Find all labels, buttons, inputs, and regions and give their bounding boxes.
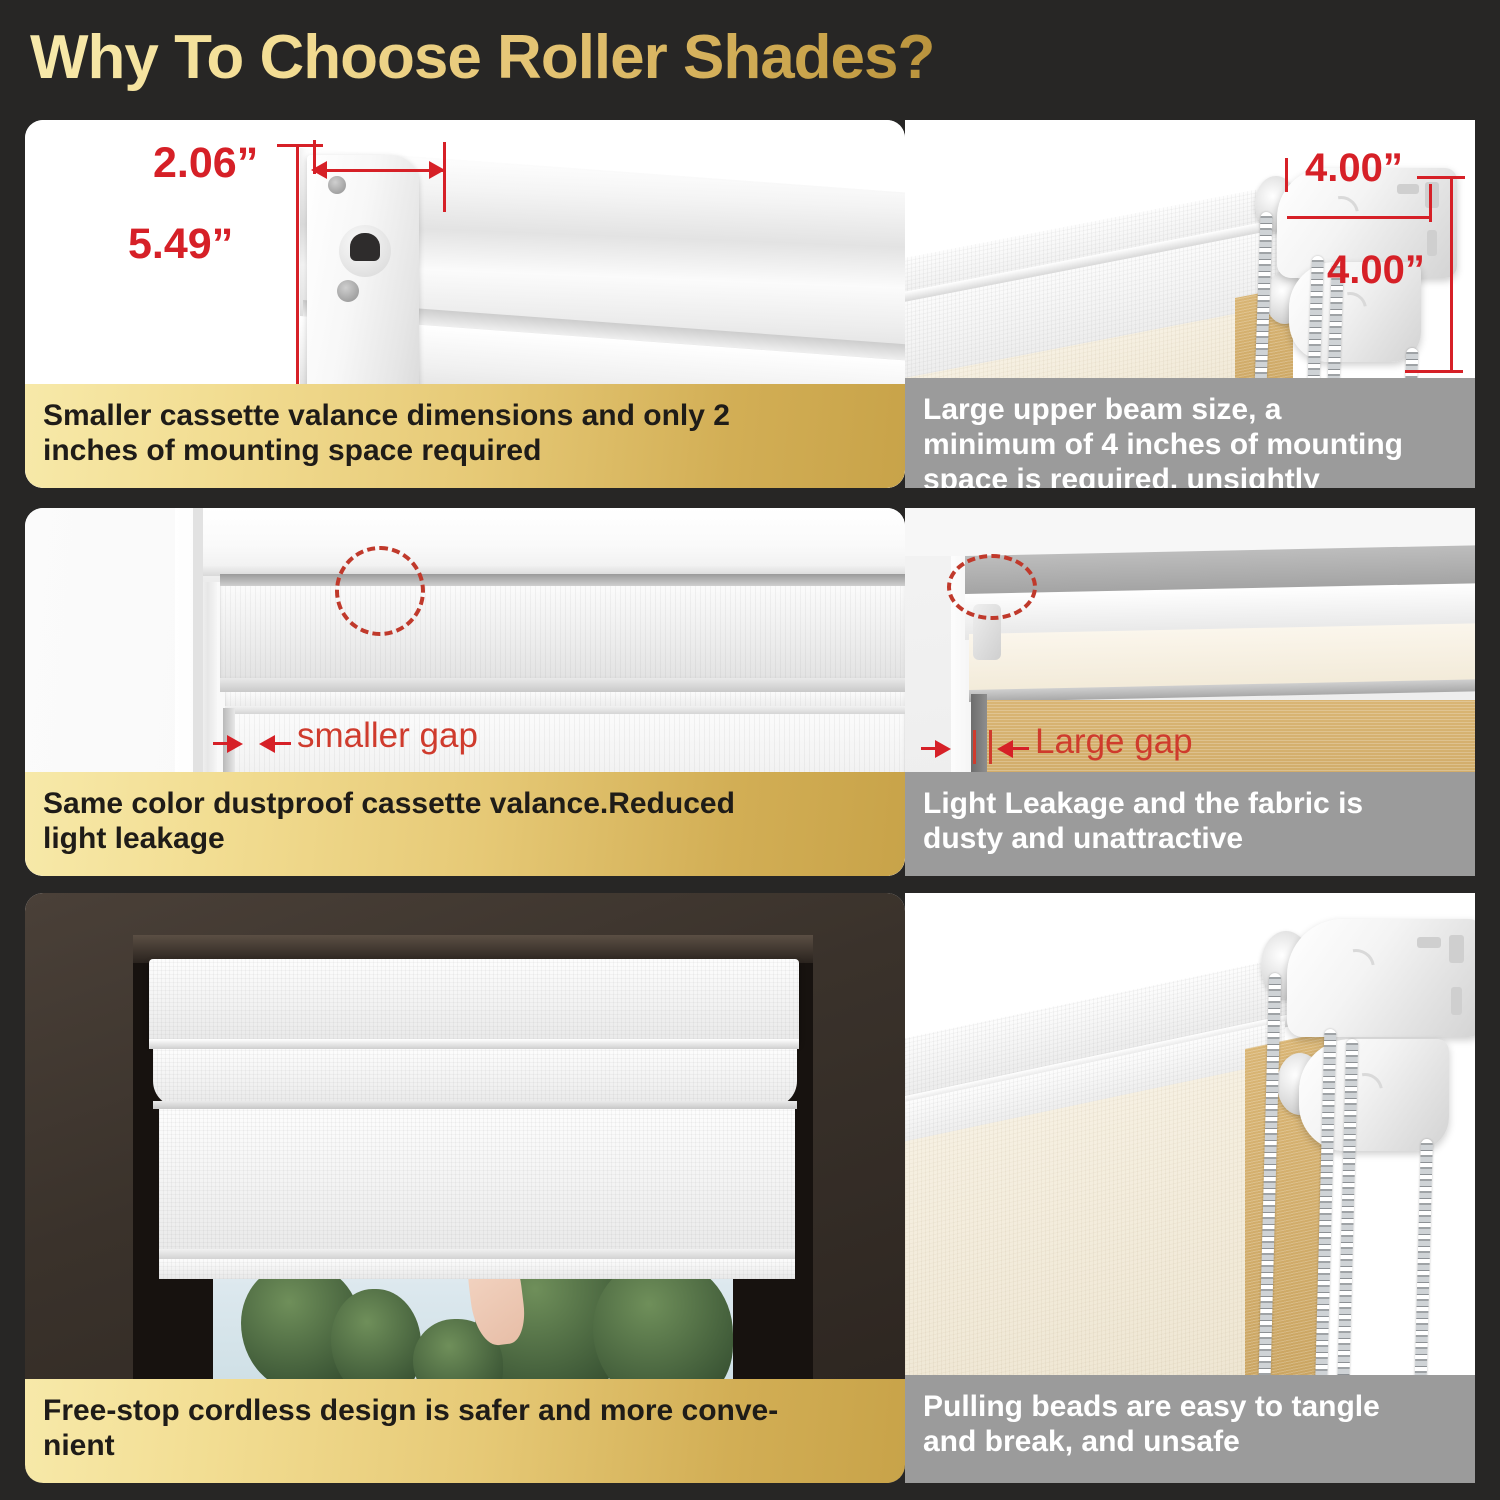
caption-line: Free-stop cordless design is safer and m… xyxy=(43,1393,887,1428)
height-dimension-label: 4.00” xyxy=(1327,248,1425,293)
caption-line: minimum of 4 inches of mounting xyxy=(923,427,1457,462)
caption-pro-cassette-dimensions: Smaller cassette valance dimensions and … xyxy=(25,384,905,488)
panel-pro-dustproof-valance: smaller gap Same color dustproof cassett… xyxy=(25,508,905,876)
caption-line: Light Leakage and the fabric is xyxy=(923,786,1457,821)
panel-pro-cordless-design: Free-stop cordless design is safer and m… xyxy=(25,893,905,1483)
caption-line: Pulling beads are easy to tangle xyxy=(923,1389,1457,1424)
caption-line: inches of mounting space required xyxy=(43,433,887,468)
caption-line: nient xyxy=(43,1428,887,1463)
highlight-circle-icon xyxy=(335,546,425,636)
panel-con-pulling-beads: Pulling beads are easy to tangle and bre… xyxy=(905,893,1475,1483)
width-dimension-label: 4.00” xyxy=(1305,146,1403,191)
caption-pro-dustproof-valance: Same color dustproof cassette valance.Re… xyxy=(25,772,905,876)
width-dimension-line xyxy=(315,169,443,172)
panel-con-light-leakage: Large gap Light Leakage and the fabric i… xyxy=(905,508,1475,876)
height-dimension-line xyxy=(1450,176,1453,372)
width-dimension-line xyxy=(1287,216,1431,219)
mounting-bracket xyxy=(1287,919,1475,1037)
width-dimension-label: 2.06” xyxy=(153,139,258,188)
bottom-rail xyxy=(159,1259,795,1279)
caption-line: Smaller cassette valance dimensions and … xyxy=(43,398,887,433)
panel-pro-cassette-dimensions: 2.06” 5.49” Smaller cassette valance dim… xyxy=(25,120,905,488)
caption-line: light leakage xyxy=(43,821,887,856)
height-dimension-label: 5.49” xyxy=(128,220,233,269)
cassette-valance xyxy=(149,959,799,1043)
shade-fabric xyxy=(159,1109,795,1259)
caption-line: Large upper beam size, a xyxy=(923,392,1457,427)
infographic-page: Why To Choose Roller Shades? 2.06” 5.49” xyxy=(0,0,1500,1500)
caption-con-light-leakage: Light Leakage and the fabric is dusty an… xyxy=(905,772,1475,876)
page-title: Why To Choose Roller Shades? xyxy=(30,22,934,93)
gap-label: Large gap xyxy=(1035,722,1193,762)
caption-line: dusty and unattractive xyxy=(923,821,1457,856)
caption-line: and break, and unsafe xyxy=(923,1424,1457,1459)
caption-pro-cordless-design: Free-stop cordless design is safer and m… xyxy=(25,1379,905,1483)
caption-line: space is required, unsightly xyxy=(923,462,1457,488)
caption-con-upper-beam-size: Large upper beam size, a minimum of 4 in… xyxy=(905,378,1475,488)
gap-label: smaller gap xyxy=(297,716,478,756)
highlight-circle-icon xyxy=(947,554,1037,620)
panel-con-upper-beam-size: 4.00” 4.00” Large upper beam size, a min… xyxy=(905,120,1475,488)
caption-con-pulling-beads: Pulling beads are easy to tangle and bre… xyxy=(905,1375,1475,1483)
caption-line: Same color dustproof cassette valance.Re… xyxy=(43,786,887,821)
